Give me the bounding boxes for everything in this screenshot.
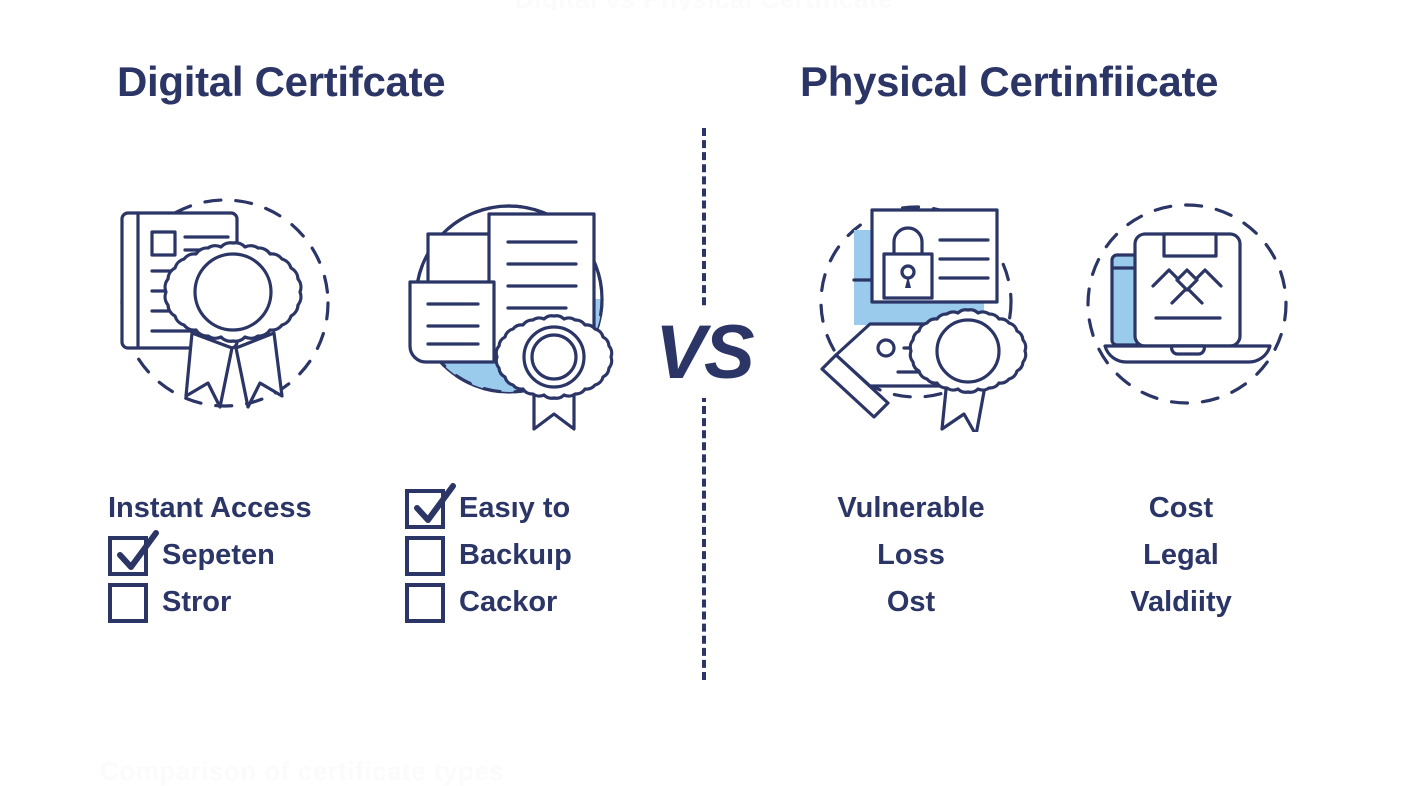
feature-label: Valdiity xyxy=(1130,588,1232,617)
digital-features-column-1: Instant Access Sepeten Stror xyxy=(108,485,312,626)
list-item: Valdiity xyxy=(1070,579,1292,626)
feature-label: Instant Access xyxy=(108,494,312,523)
feature-label: Sepeten xyxy=(162,541,275,570)
checkbox-checked-icon[interactable] xyxy=(405,489,445,529)
list-item[interactable]: Cackor xyxy=(405,579,572,626)
list-item: Ost xyxy=(800,579,1022,626)
checkbox-unchecked-icon[interactable] xyxy=(405,583,445,623)
digital-features-column-2: Easıy to Backuıp Cackor xyxy=(405,485,572,626)
vertical-dashed-divider xyxy=(702,128,706,680)
list-item: Legal xyxy=(1070,532,1292,579)
list-item[interactable]: Easıy to xyxy=(405,485,572,532)
list-item: Cost xyxy=(1070,485,1292,532)
bottom-cut-title: Comparison of certificate types xyxy=(0,756,1408,786)
infographic-canvas: Digital vs Physical Certificate Digital … xyxy=(0,0,1408,768)
feature-label: Easıy to xyxy=(459,494,570,523)
feature-label: Ost xyxy=(887,588,935,617)
list-item[interactable]: Sepeten xyxy=(108,532,312,579)
list-item: Loss xyxy=(800,532,1022,579)
physical-features-column-2: Cost Legal Valdiity xyxy=(1070,485,1292,626)
checkbox-unchecked-icon[interactable] xyxy=(108,583,148,623)
feature-label: Loss xyxy=(877,541,945,570)
feature-label: Cackor xyxy=(459,588,557,617)
digital-heading: Digital Certifcate xyxy=(117,58,445,106)
vs-label: VS xyxy=(640,306,768,398)
list-item: Instant Access xyxy=(108,485,312,532)
feature-label: Legal xyxy=(1143,541,1219,570)
checkbox-checked-icon[interactable] xyxy=(108,536,148,576)
checkbox-unchecked-icon[interactable] xyxy=(405,536,445,576)
list-item[interactable]: Stror xyxy=(108,579,312,626)
feature-label: Backuıp xyxy=(459,541,572,570)
list-item[interactable]: Backuıp xyxy=(405,532,572,579)
feature-label: Stror xyxy=(162,588,231,617)
physical-features-column-1: Vulnerable Loss Ost xyxy=(800,485,1022,626)
documents-stack-seal-icon xyxy=(404,192,629,432)
feature-label: Vulnerable xyxy=(837,494,984,523)
physical-heading: Physical Certinfiicate xyxy=(800,58,1218,106)
top-cut-title: Digital vs Physical Certificate xyxy=(0,0,1408,10)
feature-label: Cost xyxy=(1149,494,1213,523)
locked-card-tag-seal-icon xyxy=(812,192,1037,432)
laptop-crossed-tools-icon xyxy=(1080,200,1295,415)
list-item: Vulnerable xyxy=(800,485,1022,532)
certificate-document-seal-icon xyxy=(100,185,340,425)
